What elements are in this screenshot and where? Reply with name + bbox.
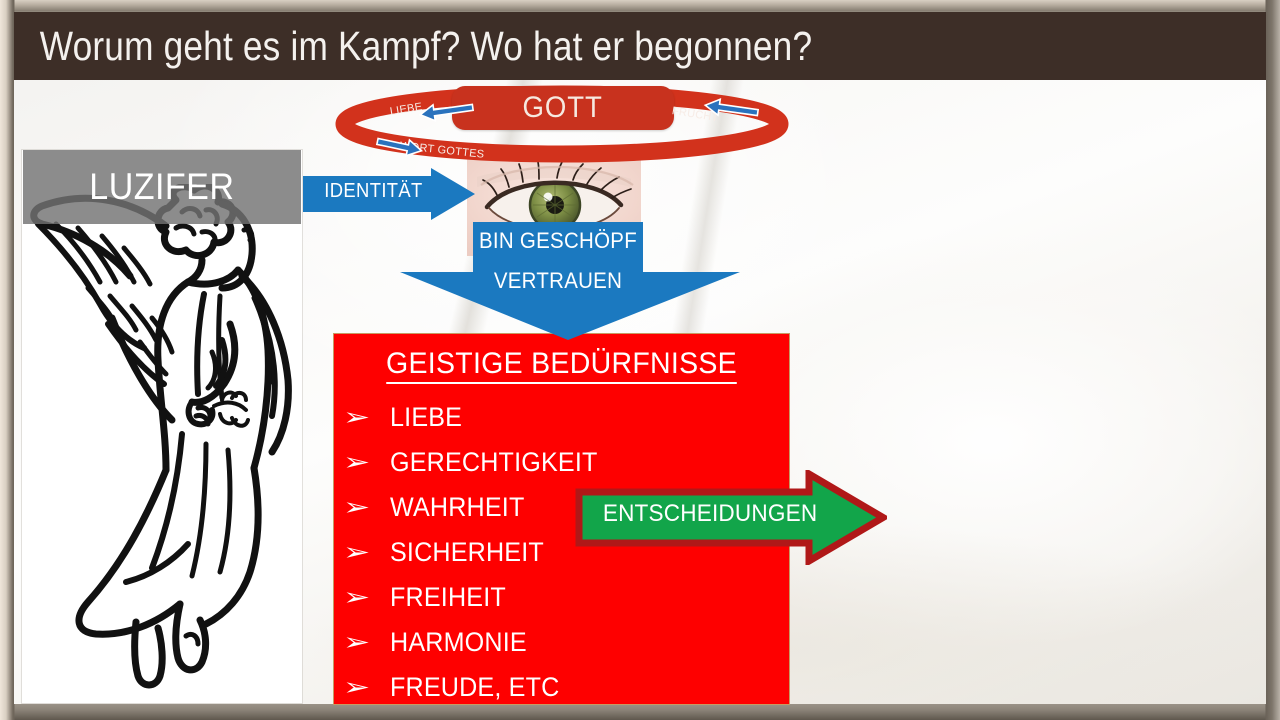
bullet-arrow-icon: ➢ — [343, 406, 397, 430]
list-item: ➢HARMONIE — [350, 620, 789, 665]
bullet-arrow-icon: ➢ — [343, 496, 397, 520]
list-item: ➢LIEBE — [350, 395, 789, 440]
lucifer-label-box: LUZIFER — [23, 150, 301, 224]
god-label: GOTT — [523, 91, 603, 125]
slide-stage: Worum geht es im Kampf? Wo hat er begonn… — [0, 0, 1280, 720]
spiritual-needs-title: GEISTIGE BEDÜRFNISSE — [345, 347, 777, 381]
bullet-arrow-icon: ➢ — [343, 451, 397, 475]
trust-line-1: BIN GESCHÖPF — [479, 228, 637, 254]
decisions-label: ENTSCHEIDUNGEN — [603, 500, 817, 528]
list-item-label: FREUDE, ETC — [390, 672, 559, 703]
list-item: ➢FREIHEIT — [350, 575, 789, 620]
list-item-label: GERECHTIGKEIT — [390, 447, 598, 478]
spiritual-needs-title-text: GEISTIGE BEDÜRFNISSE — [386, 347, 737, 384]
trust-line-2: VERTRAUEN — [479, 268, 637, 294]
list-item-label: SICHERHEIT — [390, 537, 544, 568]
angel-line-drawing-icon — [22, 184, 302, 703]
god-label-box: GOTT — [452, 86, 674, 130]
list-item: ➢FREUDE, ETC — [350, 665, 789, 705]
bullet-arrow-icon: ➢ — [343, 541, 397, 565]
identity-label: IDENTITÄT — [324, 180, 422, 203]
list-item-label: LIEBE — [390, 402, 462, 433]
list-item-label: HARMONIE — [390, 627, 527, 658]
bullet-arrow-icon: ➢ — [343, 676, 397, 700]
bullet-arrow-icon: ➢ — [343, 586, 397, 610]
lucifer-illustration-panel — [22, 150, 302, 703]
page-title: Worum geht es im Kampf? Wo hat er begonn… — [14, 23, 812, 70]
list-item-label: WAHRHEIT — [390, 492, 524, 523]
list-item-label: FREIHEIT — [390, 582, 506, 613]
title-bar: Worum geht es im Kampf? Wo hat er begonn… — [14, 12, 1266, 80]
bullet-arrow-icon: ➢ — [343, 631, 397, 655]
lucifer-label: LUZIFER — [89, 166, 234, 208]
